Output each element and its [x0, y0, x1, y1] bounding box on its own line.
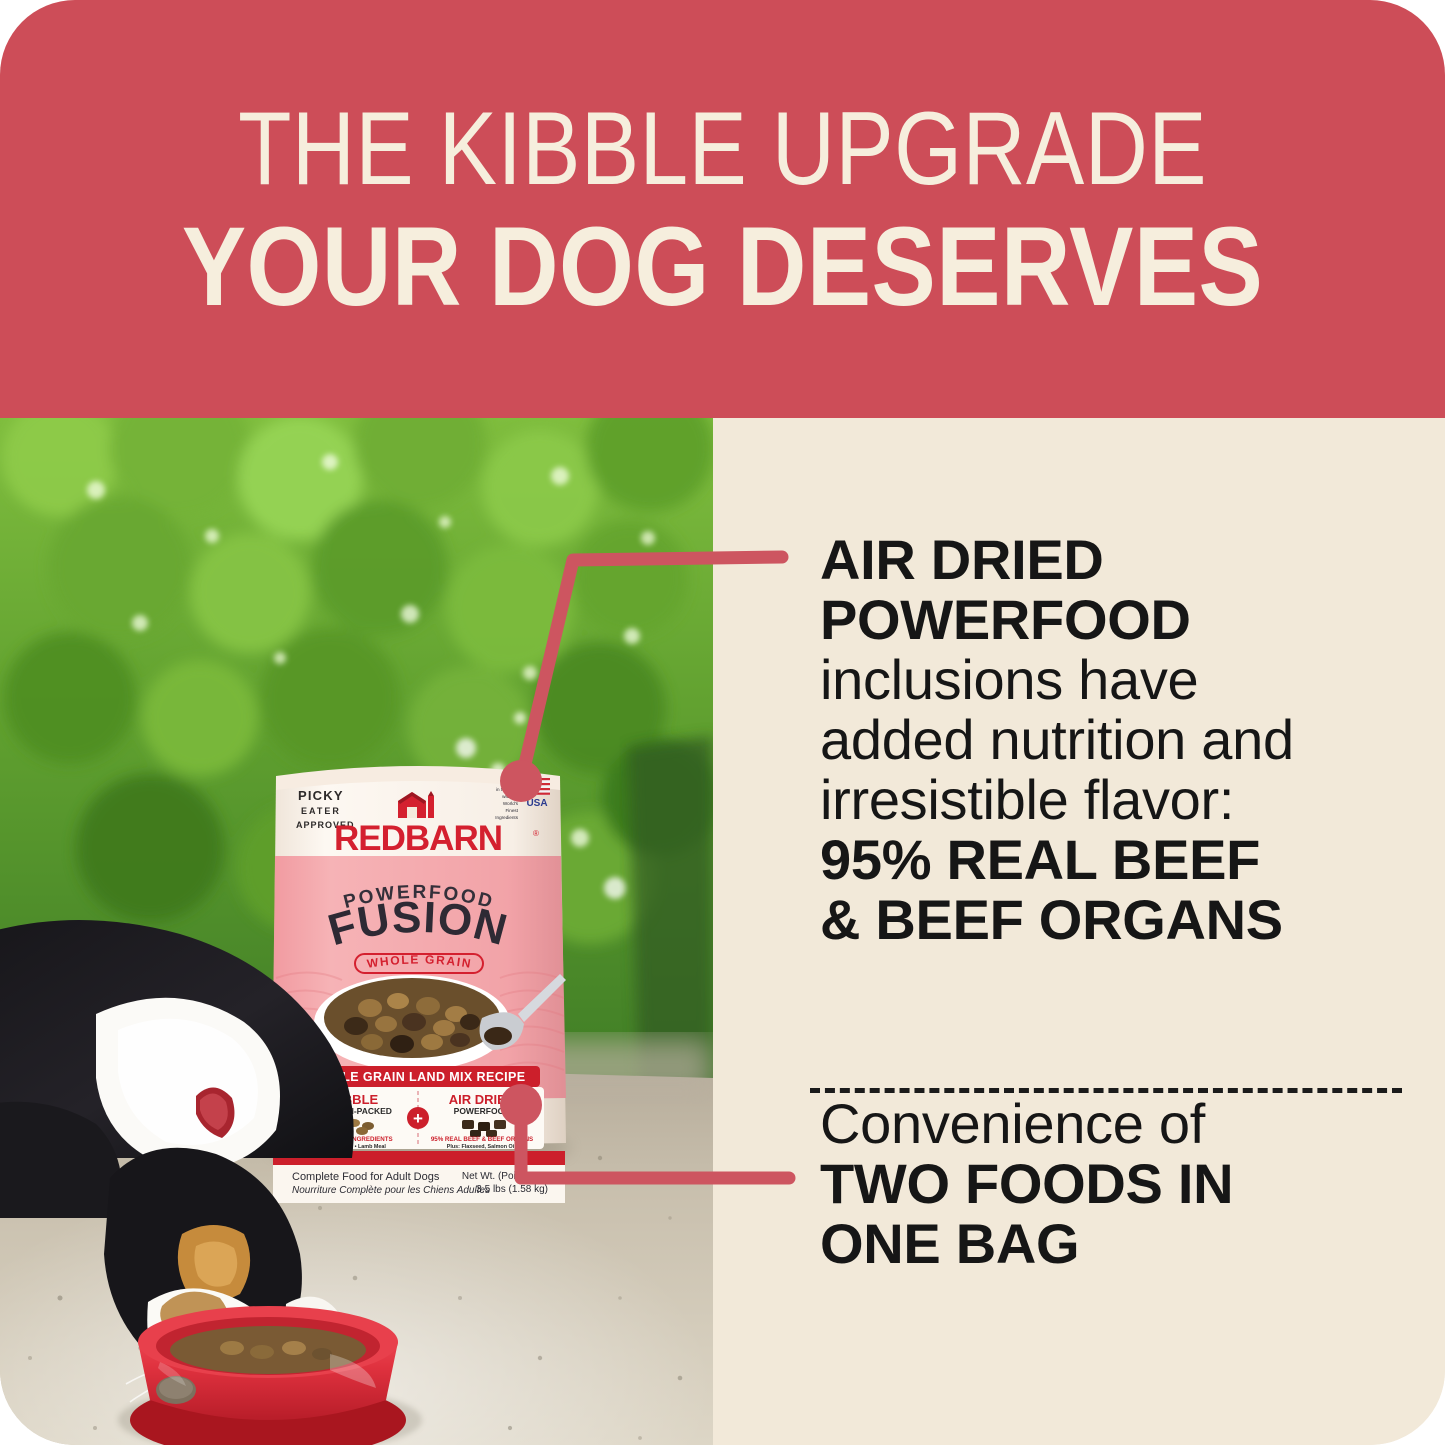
- callout-1-line-6: 95% REAL BEEF: [820, 828, 1260, 891]
- svg-text:Net Wt. (Poids Net): Net Wt. (Poids Net): [462, 1171, 548, 1182]
- headline-line-2: YOUR DOG DESERVES: [101, 208, 1344, 326]
- svg-text:AIR DRIED: AIR DRIED: [449, 1092, 515, 1107]
- page-title: THE KIBBLE UPGRADE YOUR DOG DESERVES: [0, 96, 1445, 326]
- svg-text:3.5 lbs (1.58 kg): 3.5 lbs (1.58 kg): [476, 1184, 548, 1195]
- svg-text:+: +: [413, 1109, 423, 1128]
- svg-text:95% REAL BEEF & BEEF ORGANS: 95% REAL BEEF & BEEF ORGANS: [431, 1136, 533, 1143]
- callout-1-text: AIR DRIED POWERFOOD inclusions have adde…: [820, 530, 1420, 950]
- benefits-panel: AIR DRIED POWERFOOD inclusions have adde…: [713, 418, 1445, 1445]
- callout-1-line-1: AIR DRIED: [820, 528, 1104, 591]
- callout-2-line-3: ONE BAG: [820, 1212, 1079, 1275]
- callout-1-line-4: added nutrition and: [820, 708, 1294, 771]
- callout-1-line-5: irresistible flavor:: [820, 768, 1234, 831]
- product-lifestyle-photo: PICKY EATER APPROVED Craftedin the USA w…: [0, 418, 713, 1445]
- svg-text:in the USA: in the USA: [496, 787, 519, 792]
- svg-text:PICKY: PICKY: [298, 788, 344, 803]
- callout-air-dried-powerfood: AIR DRIED POWERFOOD inclusions have adde…: [820, 530, 1420, 950]
- svg-text:®: ®: [533, 829, 539, 838]
- svg-text:EATER: EATER: [301, 806, 341, 816]
- photo-illustration: PICKY EATER APPROVED Craftedin the USA w…: [0, 418, 713, 1445]
- svg-text:Nourriture Complète pour les C: Nourriture Complète pour les Chiens Adul…: [292, 1185, 490, 1196]
- svg-text:Complete Food for Adult Dogs: Complete Food for Adult Dogs: [292, 1171, 440, 1183]
- headline-line-1: THE KIBBLE UPGRADE: [116, 96, 1330, 202]
- svg-text:World's: World's: [503, 801, 519, 806]
- svg-text:USA: USA: [526, 798, 547, 809]
- callout-1-line-7: & BEEF ORGANS: [820, 888, 1283, 951]
- callout-2-line-1: Convenience of: [820, 1092, 1205, 1155]
- svg-text:Plus: Flaxseed, Salmon Oil,: Plus: Flaxseed, Salmon Oil,: [447, 1144, 518, 1150]
- dog-bowl-graphic: [118, 1306, 422, 1445]
- svg-text:Crafted: Crafted: [503, 780, 519, 785]
- callout-two-foods-one-bag: Convenience of TWO FOODS IN ONE BAG: [820, 1094, 1420, 1274]
- svg-text:POWERFOOD: POWERFOOD: [454, 1106, 511, 1116]
- callout-1-line-3: inclusions have: [820, 648, 1198, 711]
- promo-card: THE KIBBLE UPGRADE YOUR DOG DESERVES: [0, 0, 1445, 1445]
- header-banner: THE KIBBLE UPGRADE YOUR DOG DESERVES: [0, 0, 1445, 418]
- svg-text:Finest: Finest: [505, 808, 518, 813]
- callout-2-text: Convenience of TWO FOODS IN ONE BAG: [820, 1094, 1420, 1274]
- svg-text:with the: with the: [502, 794, 518, 799]
- callout-1-line-2: POWERFOOD: [820, 588, 1191, 651]
- svg-text:REDBARN: REDBARN: [334, 819, 502, 858]
- callout-2-line-2: TWO FOODS IN: [820, 1152, 1233, 1215]
